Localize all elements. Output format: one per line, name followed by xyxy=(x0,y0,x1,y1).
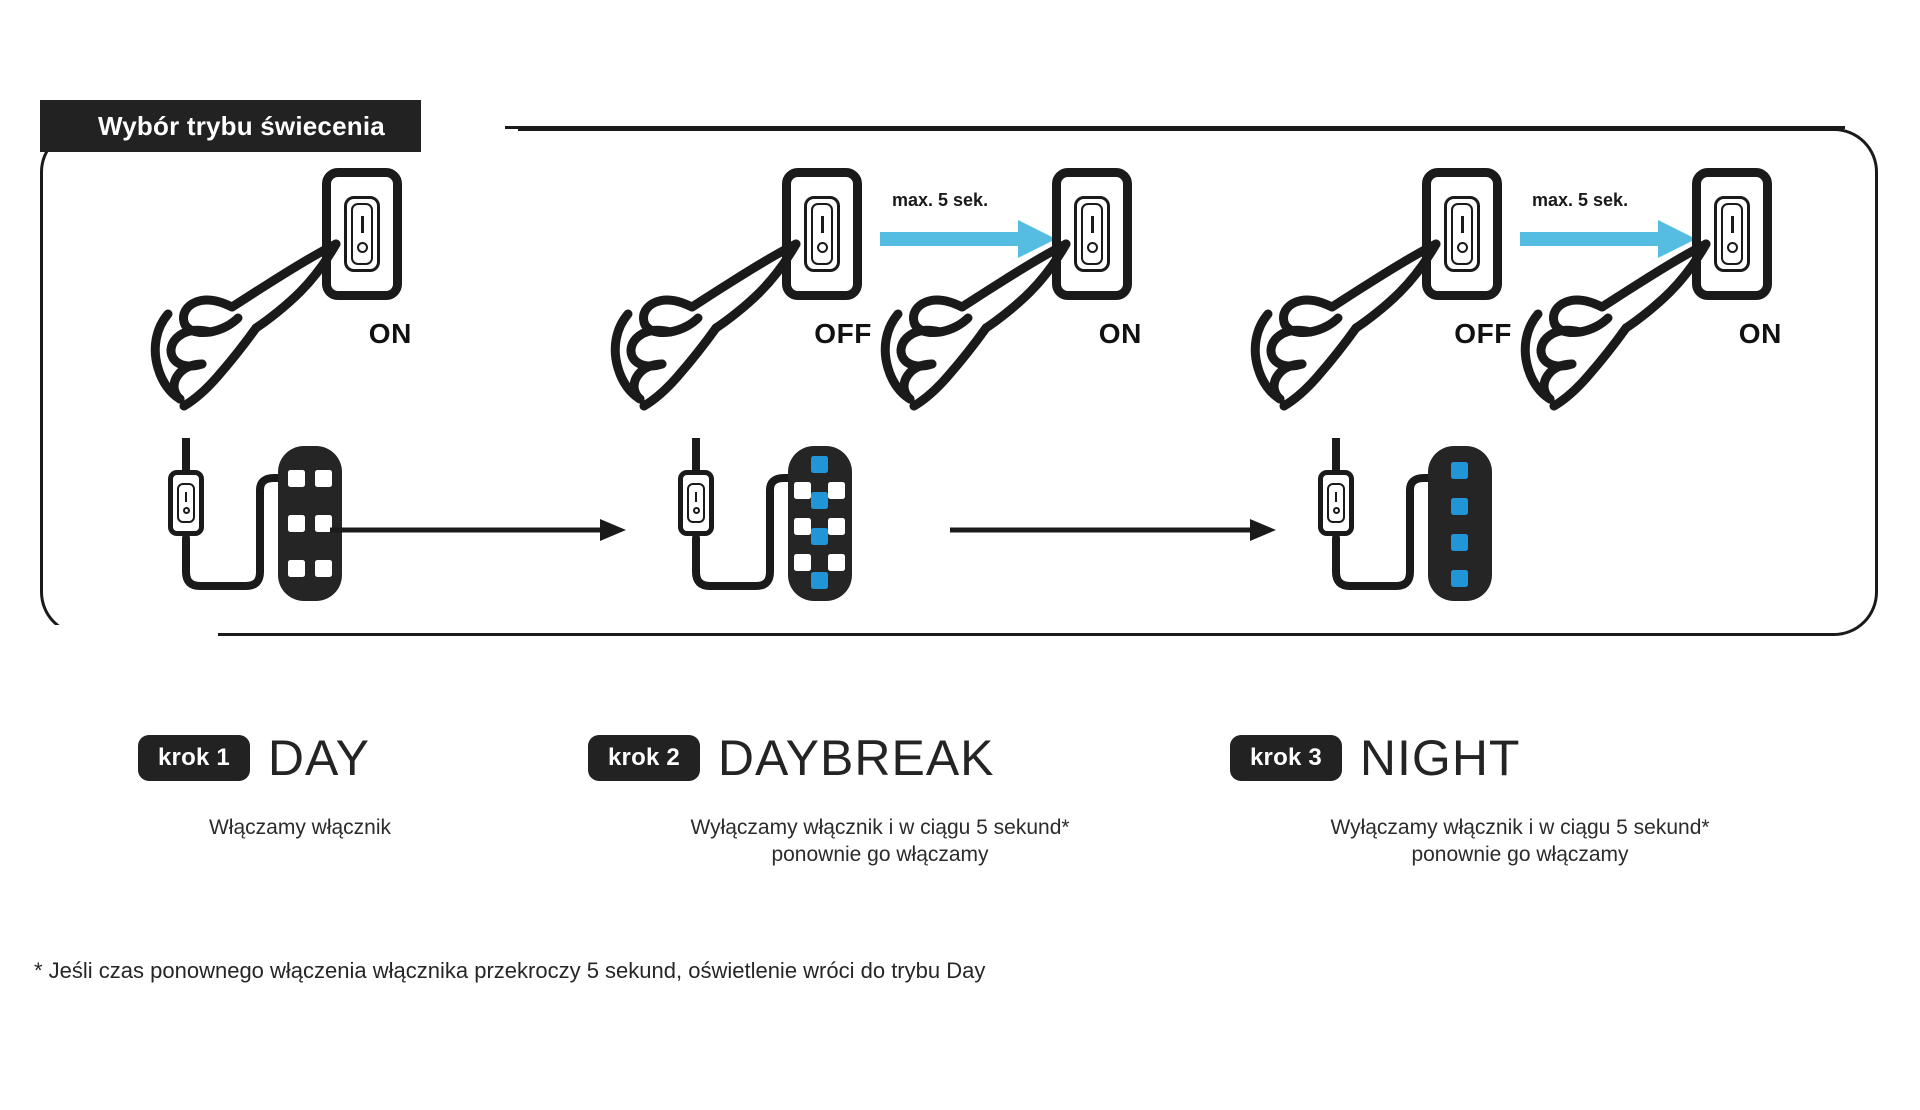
led-blue xyxy=(1451,498,1468,515)
led-white xyxy=(288,470,305,487)
switch-action-2-1: OFF xyxy=(600,168,890,418)
pointing-hand-icon xyxy=(1510,208,1730,413)
inline-rocker-mark-o-icon xyxy=(693,507,700,514)
led-white xyxy=(288,560,305,577)
led-module-group-2 xyxy=(660,438,960,608)
led-white xyxy=(794,482,811,499)
step-description-2: Wyłączamy włącznik i w ciągu 5 sekund* p… xyxy=(560,815,1200,869)
step-description-3: Wyłączamy włącznik i w ciągu 5 sekund* p… xyxy=(1200,815,1840,869)
switch-action-3-1: OFF xyxy=(1240,168,1530,418)
step-badge-1: krok 1 xyxy=(138,735,250,781)
step-description-1: Włączamy włącznik xyxy=(40,815,560,842)
inline-switch-icon xyxy=(678,470,714,536)
switch-action-2-2: ON xyxy=(870,168,1160,418)
pointing-hand-icon xyxy=(870,208,1090,413)
inline-switch-icon xyxy=(168,470,204,536)
step-column-1: ON krok 1 D xyxy=(40,150,640,1080)
led-blue xyxy=(811,456,828,473)
switch-state-label: ON xyxy=(1099,318,1142,350)
rocker-mark-i-icon xyxy=(1091,216,1094,233)
rocker-mark-i-icon xyxy=(1461,216,1464,233)
led-blue xyxy=(811,492,828,509)
mode-name-1: DAY xyxy=(268,733,370,783)
led-white xyxy=(828,482,845,499)
mode-name-3: NIGHT xyxy=(1360,733,1521,783)
step-column-3: OFF max. 5 sek. xyxy=(1260,150,1860,1080)
inline-rocker-mark-o-icon xyxy=(183,507,190,514)
inline-rocker-mark-i-icon xyxy=(695,492,697,502)
mode-row-2: krok 2 DAYBREAK xyxy=(588,733,995,783)
led-blue xyxy=(811,528,828,545)
rocker-mark-i-icon xyxy=(821,216,824,233)
inline-switch-icon xyxy=(1318,470,1354,536)
led-white xyxy=(794,554,811,571)
switch-state-label: OFF xyxy=(814,318,872,350)
led-blue xyxy=(1451,570,1468,587)
led-module-group-3 xyxy=(1300,438,1600,608)
pointing-hand-icon xyxy=(600,208,820,413)
flow-arrow-2-to-3 xyxy=(950,518,1280,542)
led-white xyxy=(288,515,305,532)
rocker-mark-i-icon xyxy=(361,216,364,233)
page-title: Wybór trybu świecenia xyxy=(98,111,385,142)
pointing-hand-icon xyxy=(1240,208,1460,413)
switch-action-3-2: ON xyxy=(1510,168,1800,418)
inline-rocker-mark-o-icon xyxy=(1333,507,1340,514)
led-white xyxy=(315,560,332,577)
footnote-text: * Jeśli czas ponownego włączenia włączni… xyxy=(34,958,985,984)
led-module-night xyxy=(1428,446,1492,601)
led-blue xyxy=(1451,534,1468,551)
switch-state-label: ON xyxy=(1739,318,1782,350)
led-blue xyxy=(1451,462,1468,479)
led-white xyxy=(794,518,811,535)
led-blue xyxy=(811,572,828,589)
pointing-hand-icon xyxy=(140,208,360,413)
led-white xyxy=(828,518,845,535)
led-module-daybreak xyxy=(788,446,852,601)
rocker-mark-i-icon xyxy=(1731,216,1734,233)
led-white xyxy=(828,554,845,571)
step-badge-3: krok 3 xyxy=(1230,735,1342,781)
flow-arrow-1-to-2 xyxy=(330,518,630,542)
inline-rocker-mark-i-icon xyxy=(185,492,187,502)
inline-rocker-mark-i-icon xyxy=(1335,492,1337,502)
mode-row-3: krok 3 NIGHT xyxy=(1230,733,1520,783)
step-column-2: OFF max. 5 sek. xyxy=(620,150,1220,1080)
switch-state-label: ON xyxy=(369,318,412,350)
switch-action-1-1: ON xyxy=(140,168,430,418)
step-badge-2: krok 2 xyxy=(588,735,700,781)
header-connector-line xyxy=(505,126,1845,129)
mode-name-2: DAYBREAK xyxy=(718,733,995,783)
led-white xyxy=(315,470,332,487)
switch-state-label: OFF xyxy=(1454,318,1512,350)
mode-row-1: krok 1 DAY xyxy=(138,733,370,783)
header-badge: Wybór trybu świecenia xyxy=(40,100,421,152)
